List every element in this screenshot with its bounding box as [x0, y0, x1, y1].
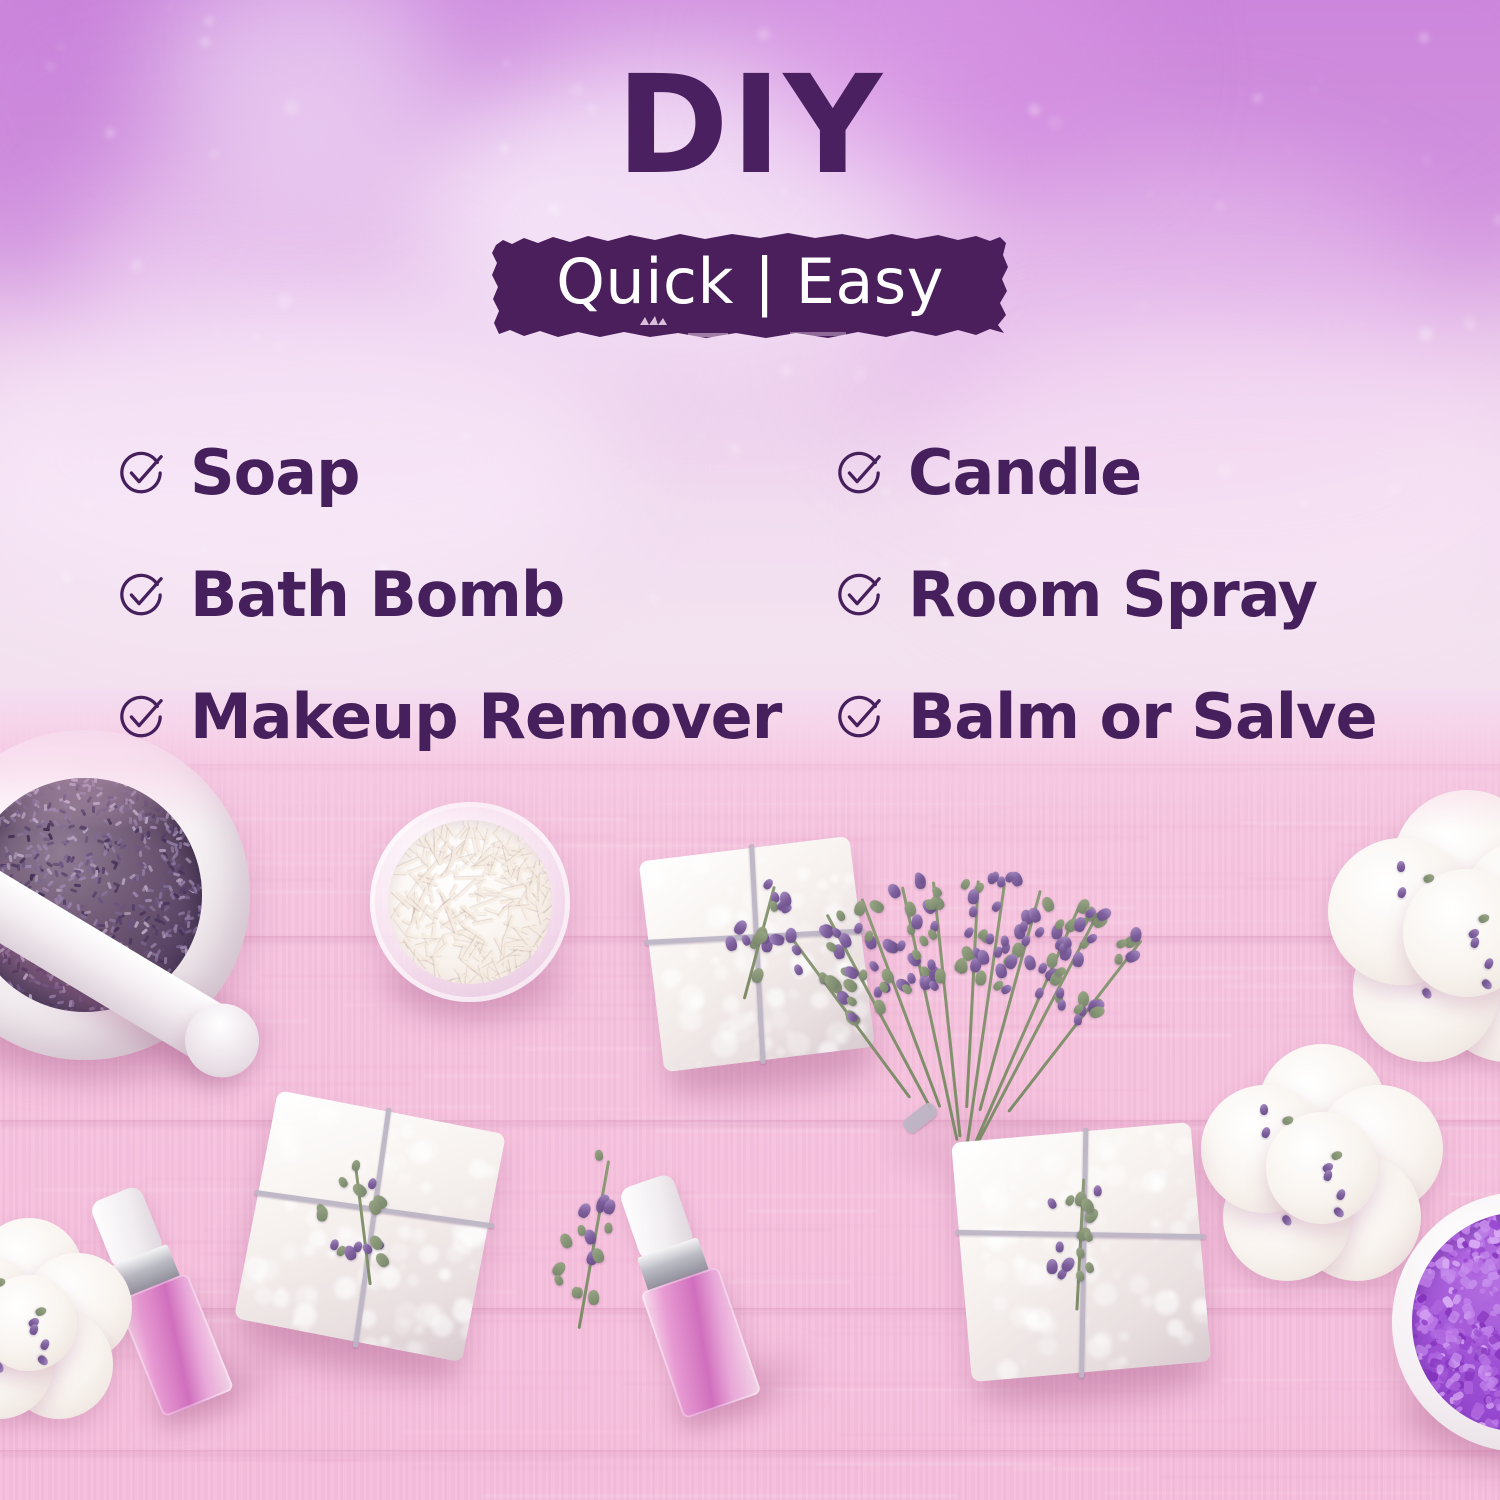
checklist-item-label: Bath Bomb [190, 564, 564, 626]
check-circle-icon [118, 450, 164, 496]
diy-checklist: SoapCandleBath BombRoom SprayMakeup Remo… [118, 412, 1390, 778]
checklist-item-label: Room Spray [908, 564, 1317, 626]
checklist-item: Balm or Salve [836, 656, 1390, 778]
checklist-item: Room Spray [836, 534, 1390, 656]
check-circle-icon [836, 572, 882, 618]
page-title: DIY [0, 58, 1500, 194]
checklist-item: Bath Bomb [118, 534, 836, 656]
checklist-item: Makeup Remover [118, 656, 836, 778]
brush-stroke-badge: Quick | Easy [490, 225, 1010, 343]
badge-container: Quick | Easy [0, 225, 1500, 343]
checklist-item-label: Balm or Salve [908, 686, 1377, 748]
checklist-item-label: Makeup Remover [190, 686, 781, 748]
check-circle-icon [836, 450, 882, 496]
check-circle-icon [118, 572, 164, 618]
checklist-item: Candle [836, 412, 1390, 534]
checklist-item: Soap [118, 412, 836, 534]
poster-root: DIY Quick | Easy SoapCandleBath BombRoom… [0, 0, 1500, 1500]
check-circle-icon [118, 694, 164, 740]
checklist-item-label: Soap [190, 442, 359, 504]
badge-label: Quick | Easy [490, 225, 1010, 343]
checklist-item-label: Candle [908, 442, 1141, 504]
check-circle-icon [836, 694, 882, 740]
